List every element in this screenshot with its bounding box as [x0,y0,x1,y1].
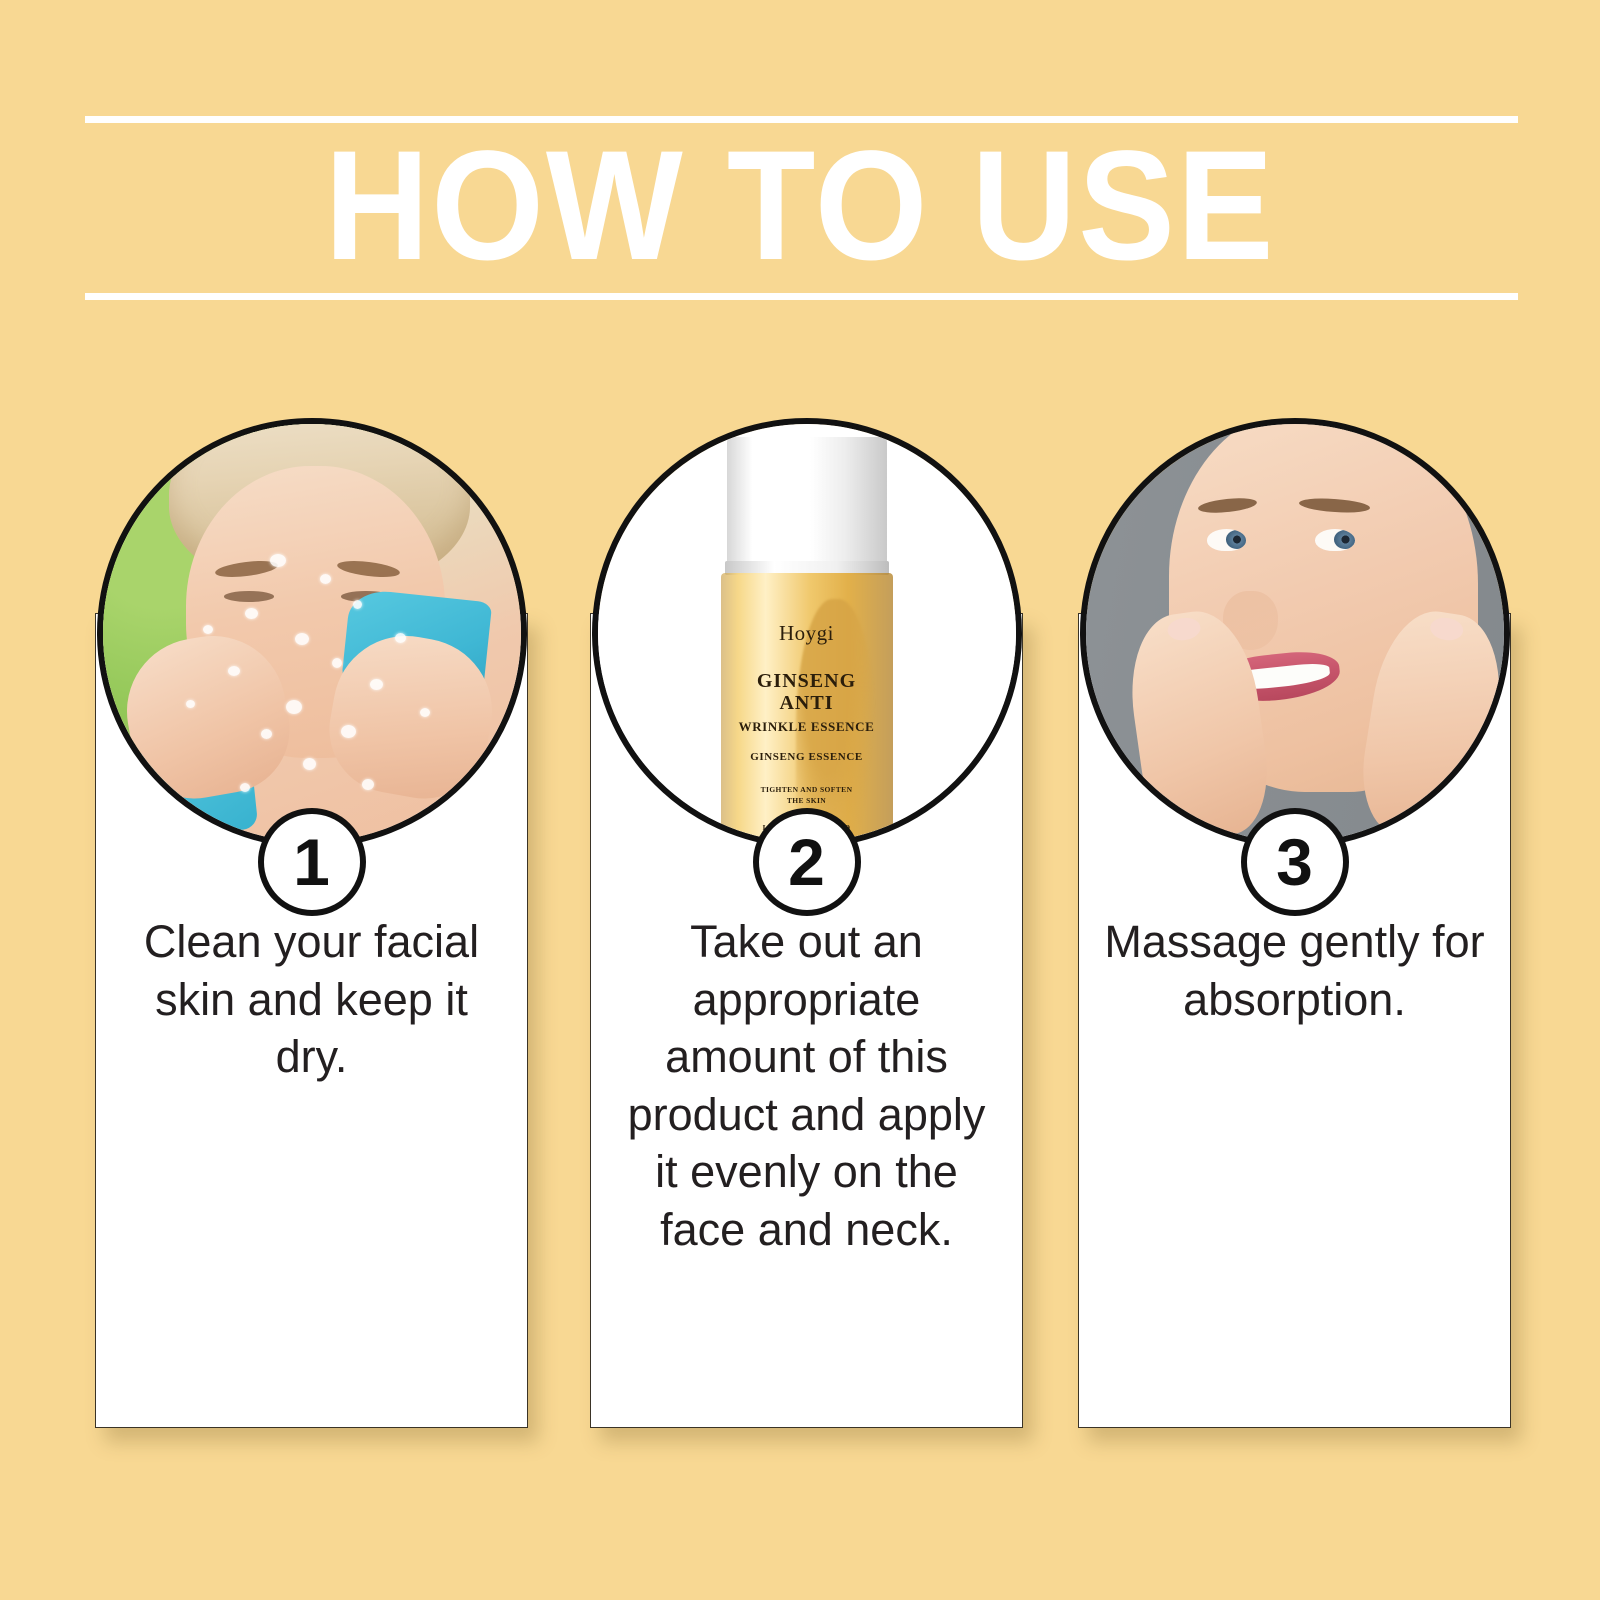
step-2-photo-circle: Hoygi GINSENG ANTI WRINKLE ESSENCE GINSE… [592,418,1022,848]
bottle-benefit-1-line-2: THE SKIN [721,796,893,806]
bottle-title-line-2: ANTI [721,692,893,714]
step-number-badge-1: 1 [258,808,366,916]
step-card-1: 1 Clean your facial skin and keep it dry… [95,613,528,1428]
bottle-subtitle: WRINKLE ESSENCE [721,719,893,735]
bottle-descriptor: GINSENG ESSENCE [721,751,893,763]
serum-bottle: Hoygi GINSENG ANTI WRINKLE ESSENCE GINSE… [721,437,893,848]
bottle-cap [727,437,887,565]
step-caption-3: Massage gently for absorption. [1100,913,1489,1028]
woman-splashing-water-on-face-photo [103,424,521,842]
bottle-body: Hoygi GINSENG ANTI WRINKLE ESSENCE GINSE… [721,573,893,848]
bottle-title-line-1: GINSENG [721,670,893,692]
step-caption-1: Clean your facial skin and keep it dry. [117,913,506,1086]
step-number-badge-3: 3 [1241,808,1349,916]
step-card-2: Hoygi GINSENG ANTI WRINKLE ESSENCE GINSE… [590,613,1023,1428]
step-3-photo-circle [1080,418,1510,848]
step-caption-2: Take out an appropriate amount of this p… [612,913,1001,1259]
steps-row: 1 Clean your facial skin and keep it dry… [0,0,1600,1600]
bottle-benefit-1-line-1: TIGHTEN AND SOFTEN [721,785,893,795]
ginseng-essence-bottle-photo: Hoygi GINSENG ANTI WRINKLE ESSENCE GINSE… [598,424,1016,842]
bottle-brand-text: Hoygi [721,621,893,646]
step-number-badge-2: 2 [753,808,861,916]
woman-massaging-face-photo [1086,424,1504,842]
step-card-3: 3 Massage gently for absorption. [1078,613,1511,1428]
step-1-photo-circle [97,418,527,848]
